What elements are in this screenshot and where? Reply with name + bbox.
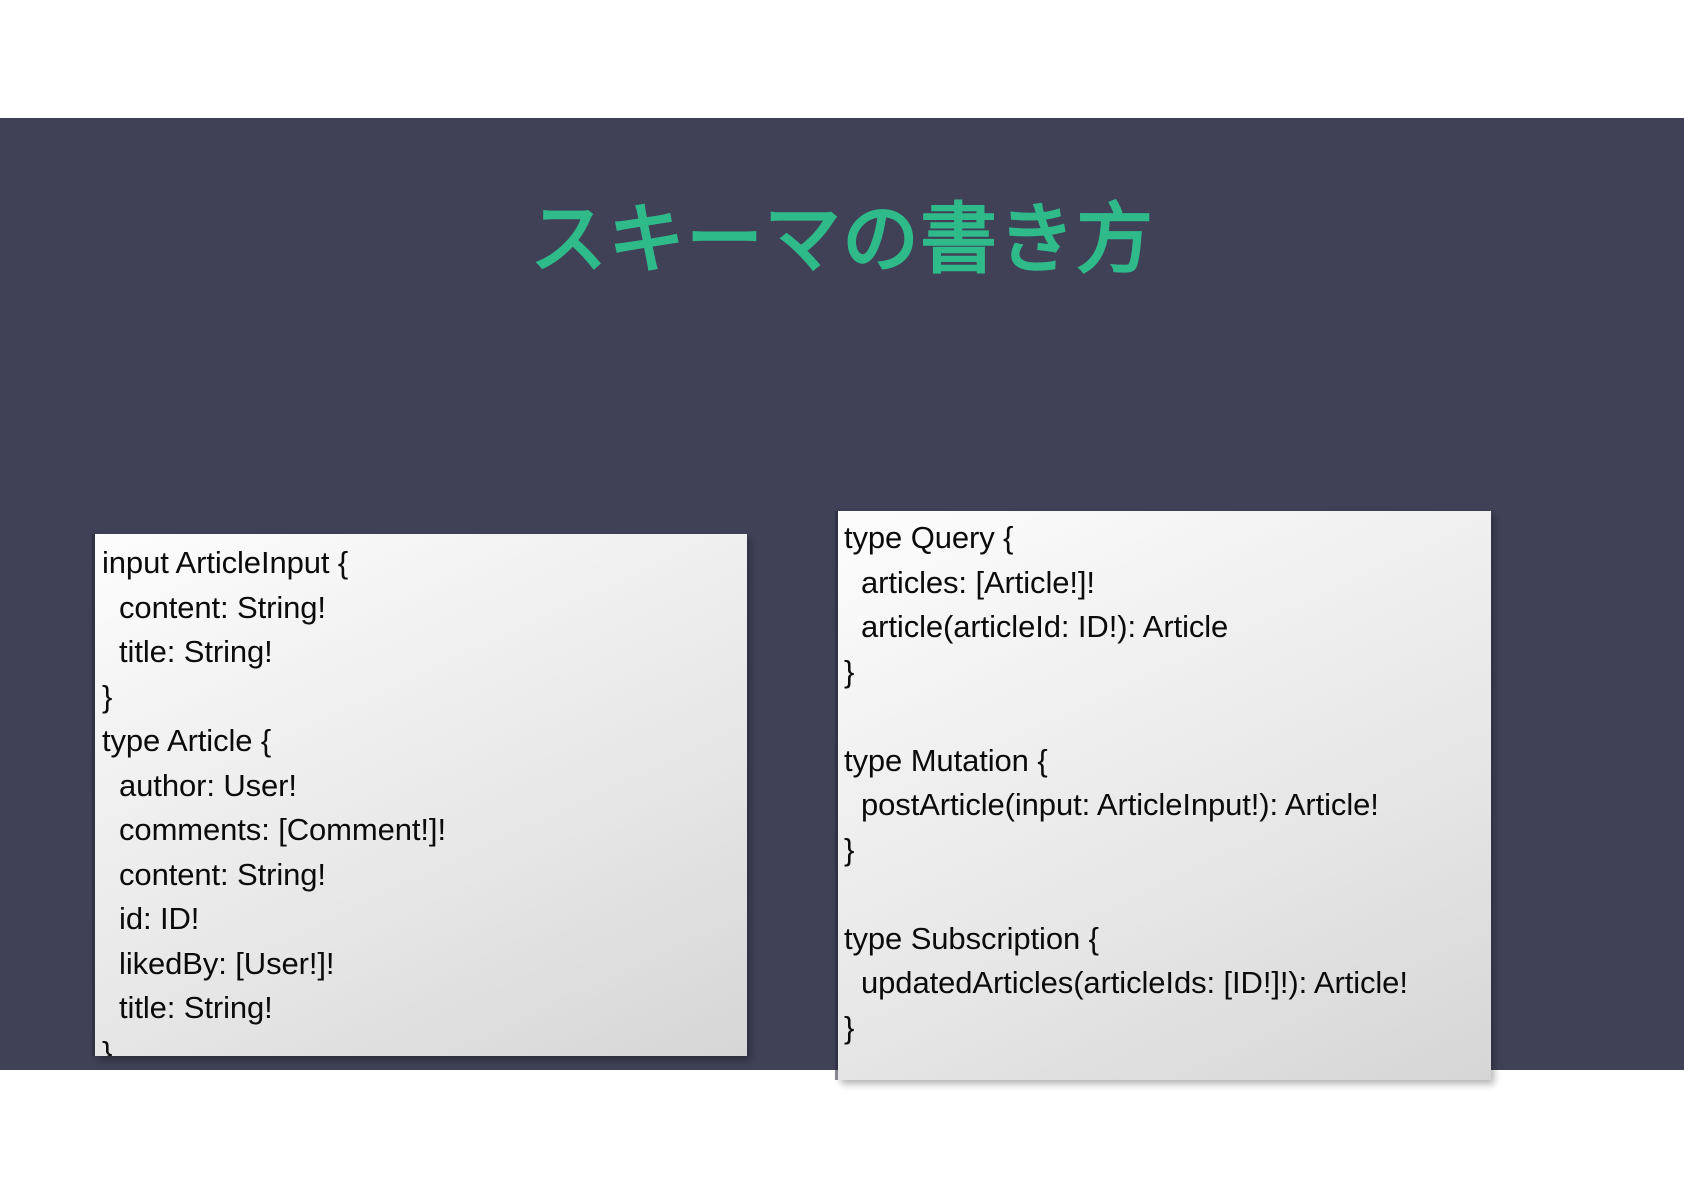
- code-text-schema-types: input ArticleInput { content: String! ti…: [95, 534, 747, 1056]
- slide-canvas: スキーマの書き方 input ArticleInput { content: S…: [0, 118, 1684, 1070]
- page-title: スキーマの書き方: [0, 199, 1684, 284]
- code-line: title: String!: [102, 630, 747, 675]
- code-block-schema-types: input ArticleInput { content: String! ti…: [95, 534, 747, 1056]
- code-line: article(articleId: ID!): Article: [844, 605, 1491, 650]
- code-line: type Mutation {: [844, 739, 1491, 784]
- slide-root: スキーマの書き方 input ArticleInput { content: S…: [0, 0, 1684, 1191]
- code-line: comments: [Comment!]!: [102, 808, 747, 853]
- code-line: type Subscription {: [844, 917, 1491, 962]
- code-line: }: [844, 828, 1491, 873]
- code-line: author: User!: [102, 764, 747, 809]
- code-text-schema-operations: type Query { articles: [Article!]! artic…: [838, 511, 1491, 1050]
- code-line: articles: [Article!]!: [844, 561, 1491, 606]
- code-line: type Article {: [102, 719, 747, 764]
- code-line: }: [102, 675, 747, 720]
- code-line: content: String!: [102, 853, 747, 898]
- code-line: postArticle(input: ArticleInput!): Artic…: [844, 783, 1491, 828]
- code-line: type Query {: [844, 516, 1491, 561]
- code-line: [844, 872, 1491, 917]
- code-line: input ArticleInput {: [102, 541, 747, 586]
- code-line: content: String!: [102, 586, 747, 631]
- code-line: likedBy: [User!]!: [102, 942, 747, 987]
- code-line: [844, 694, 1491, 739]
- code-line: }: [102, 1031, 747, 1057]
- code-block-schema-operations: type Query { articles: [Article!]! artic…: [838, 511, 1491, 1080]
- code-line: id: ID!: [102, 897, 747, 942]
- code-line: title: String!: [102, 986, 747, 1031]
- code-line: }: [844, 650, 1491, 695]
- code-line: }: [844, 1006, 1491, 1051]
- code-line: updatedArticles(articleIds: [ID!]!): Art…: [844, 961, 1491, 1006]
